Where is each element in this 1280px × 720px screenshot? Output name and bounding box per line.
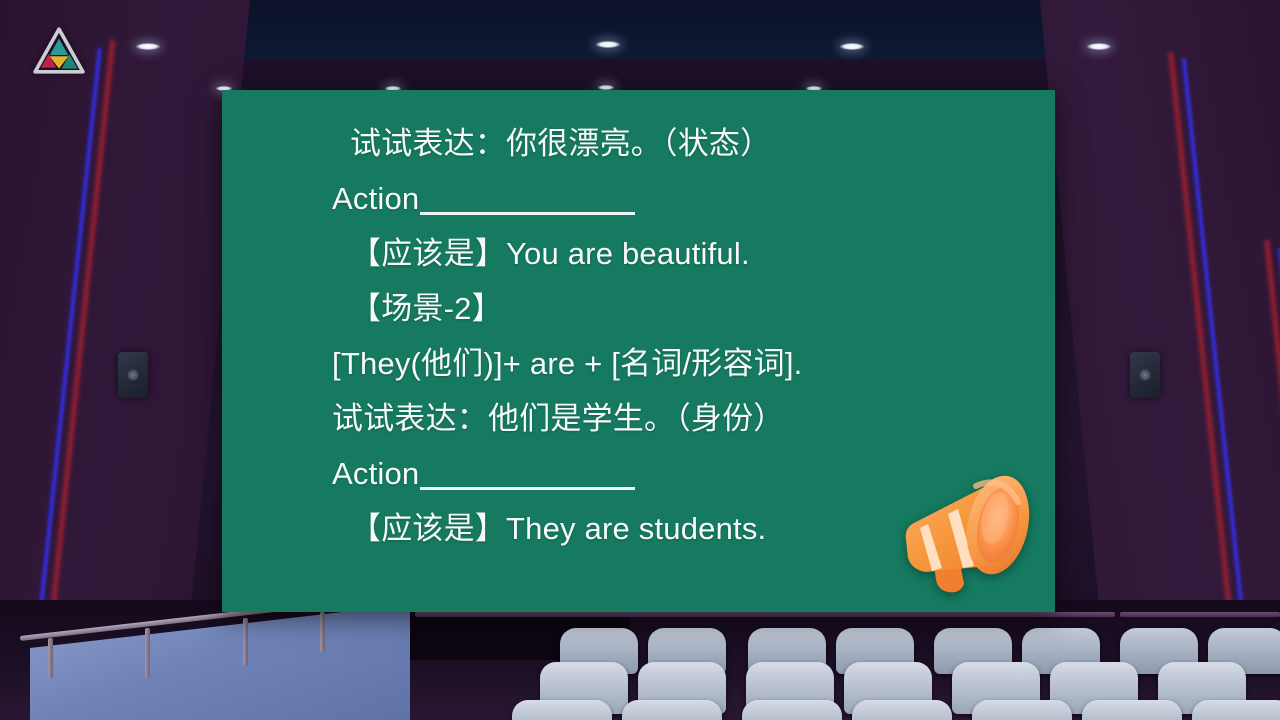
board-line-6: 试试表达：他们是学生。（身份）: [332, 391, 1027, 446]
answer-blank-1[interactable]: [420, 212, 635, 215]
theater-seat: [1192, 700, 1280, 720]
theater-seat: [622, 700, 722, 720]
theater-seat: [972, 700, 1072, 720]
action-label-2: Action: [332, 456, 419, 491]
triangle-prism-logo: [33, 26, 85, 76]
board-line-1: 试试表达：你很漂亮。（状态）: [332, 116, 1027, 171]
ceiling-light: [1087, 43, 1111, 50]
handrail-post: [243, 618, 248, 666]
ceiling-light: [136, 43, 160, 50]
megaphone-icon: [898, 468, 1038, 604]
seat-rail: [415, 612, 1115, 617]
board-line-5: [They(他们)]+ are + [名词/形容词].: [332, 336, 1027, 391]
theater-seat: [852, 700, 952, 720]
theater-seat: [742, 700, 842, 720]
seat-rail: [1120, 612, 1280, 617]
theater-seat: [1082, 700, 1182, 720]
ceiling-light: [596, 41, 620, 48]
handrail-post: [48, 638, 53, 678]
wall-speaker-right: [1130, 352, 1160, 398]
wall-speaker-left: [118, 352, 148, 398]
board-line-3: 【应该是】You are beautiful.: [332, 226, 1027, 281]
handrail-post: [145, 628, 150, 678]
board-line-4: 【场景-2】: [332, 281, 1027, 336]
handrail-post: [320, 612, 325, 652]
cinema-slide: 试试表达：你很漂亮。（状态） Action 【应该是】You are beaut…: [0, 0, 1280, 720]
board-line-2: Action: [332, 171, 1027, 226]
theater-seat: [512, 700, 612, 720]
ceiling-light: [840, 43, 864, 50]
action-label-1: Action: [332, 181, 419, 216]
answer-blank-2[interactable]: [420, 487, 635, 490]
